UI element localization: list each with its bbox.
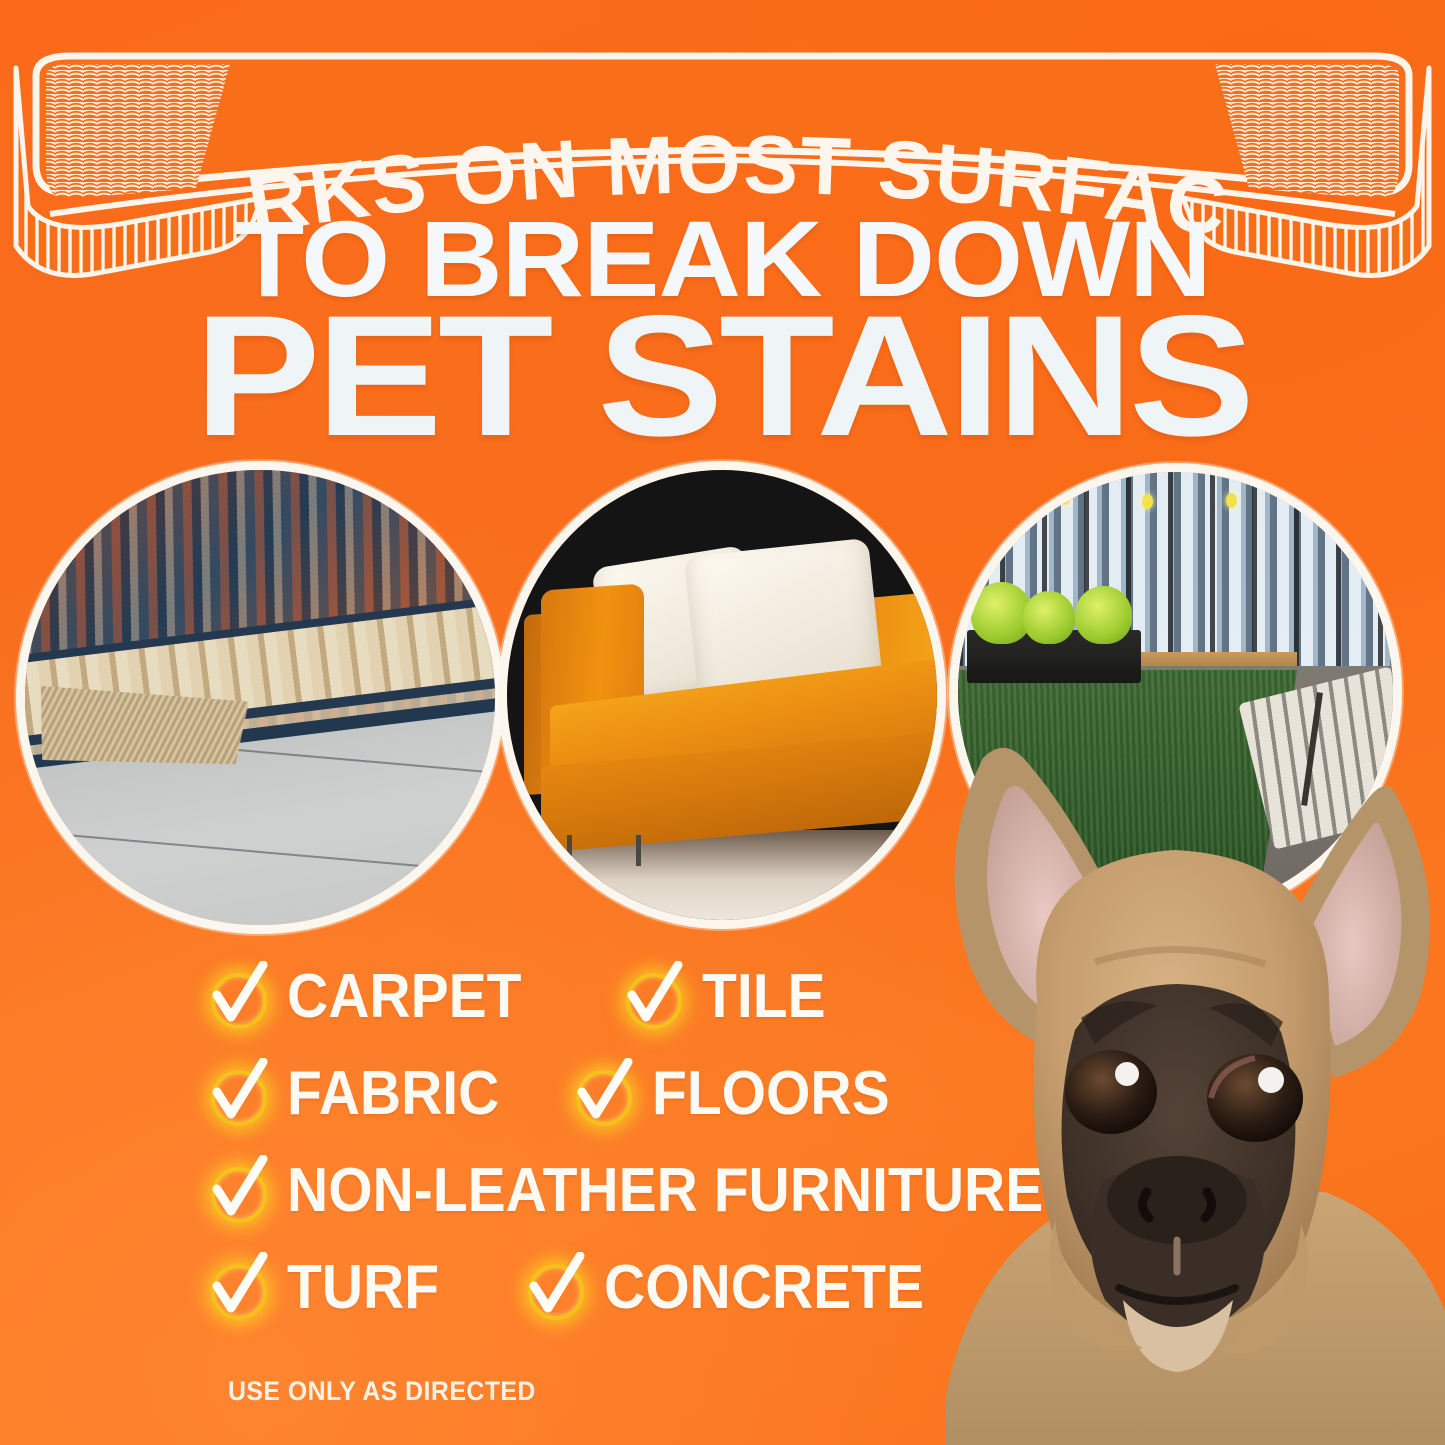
check-circle-icon (620, 965, 684, 1029)
checklist-label: CARPET (287, 966, 522, 1028)
checklist-label: TURF (287, 1257, 439, 1319)
turf-plant (1023, 591, 1075, 644)
usage-disclaimer: USE ONLY AS DIRECTED (228, 1376, 536, 1407)
dog-eye-highlight-right (1258, 1067, 1284, 1093)
dog-eye-highlight-left (1115, 1062, 1139, 1086)
page-title: PET STAINS (0, 290, 1445, 462)
check-circle-icon (205, 1256, 269, 1320)
check-circle-icon (570, 1062, 634, 1126)
checklist-item-floors: FLOORS (570, 1062, 910, 1126)
dog-eye-right (1207, 1054, 1303, 1142)
checklist-item-tile: TILE (620, 965, 836, 1029)
checklist-label: FLOORS (652, 1063, 890, 1125)
checklist-item-turf: TURF (205, 1256, 452, 1320)
check-circle-icon (205, 1159, 269, 1223)
french-bulldog-mascot (905, 700, 1445, 1445)
checklist-label: TILE (702, 966, 826, 1028)
rug-photo (25, 470, 495, 925)
check-circle-icon (205, 965, 269, 1029)
turf-plant (1075, 586, 1132, 643)
checklist-item-carpet: CARPET (205, 965, 542, 1029)
dog-eye-left (1065, 1050, 1157, 1134)
checklist-item-concrete: CONCRETE (522, 1256, 952, 1320)
turf-string-lights (1036, 485, 1314, 511)
sofa-leg (636, 835, 641, 867)
sofa-leg (567, 835, 572, 867)
dog-nose (1107, 1156, 1247, 1244)
sofa-photo (507, 470, 937, 920)
checklist-item-fabric: FABRIC (205, 1062, 518, 1126)
check-circle-icon (205, 1062, 269, 1126)
check-circle-icon (522, 1256, 586, 1320)
checklist-label: FABRIC (287, 1063, 499, 1125)
product-feature-poster: WORKS ON MOST SURFACES TO BREAK DOWN PET… (0, 0, 1445, 1445)
checklist-label: CONCRETE (604, 1257, 924, 1319)
